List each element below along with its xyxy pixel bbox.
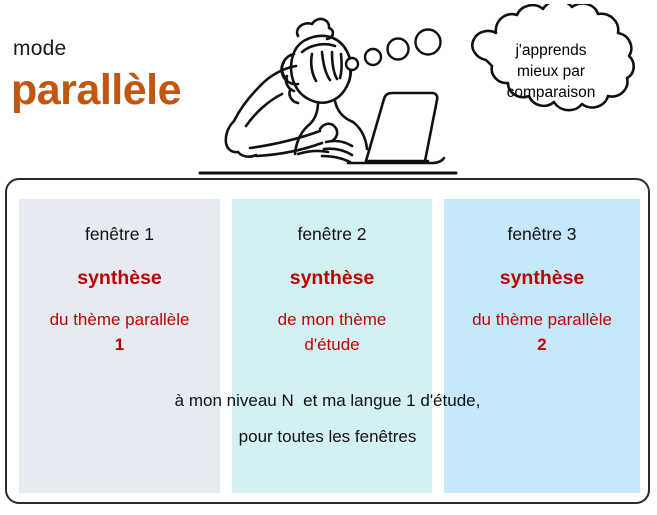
window-3-title: fenêtre 3 [444,224,640,245]
window-1-title: fenêtre 1 [19,224,220,245]
parallel-mode-panel: fenêtre 1 synthèse du thème parallèle 1 … [5,178,650,504]
window-column-3[interactable]: fenêtre 3 synthèse du thème parallèle 2 [444,199,640,493]
window-2-title: fenêtre 2 [232,224,432,245]
bubble-line-3: comparaison [507,82,596,103]
window-column-2[interactable]: fenêtre 2 synthèse de mon thème d'étude [232,199,432,493]
window-2-heading: synthèse [232,267,432,290]
window-3-detail-line-2: 2 [444,332,640,357]
mode-label: mode [13,37,66,61]
window-2-detail-line-1: de mon thème [232,307,432,332]
window-1-detail: du thème parallèle 1 [19,307,220,357]
window-2-detail: de mon thème d'étude [232,307,432,357]
bubble-line-1: j'apprends [515,40,586,61]
windows-columns: fenêtre 1 synthèse du thème parallèle 1 … [19,199,640,493]
window-3-detail-line-1: du thème parallèle [444,307,640,332]
thought-bubble-text: j'apprends mieux par comparaison [448,4,654,134]
mode-title: parallèle [11,66,181,115]
thought-bubble: j'apprends mieux par comparaison [448,4,654,134]
header-area: mode parallèle [0,0,657,178]
window-column-1[interactable]: fenêtre 1 synthèse du thème parallèle 1 [19,199,220,493]
window-1-detail-line-1: du thème parallèle [19,307,220,332]
bubble-line-2: mieux par [517,61,585,82]
thought-bubble-dots-icon [340,18,460,78]
window-3-heading: synthèse [444,267,640,290]
window-1-detail-line-2: 1 [19,332,220,357]
window-2-detail-line-2: d'étude [232,332,432,357]
window-1-heading: synthèse [19,267,220,290]
window-3-detail: du thème parallèle 2 [444,307,640,357]
